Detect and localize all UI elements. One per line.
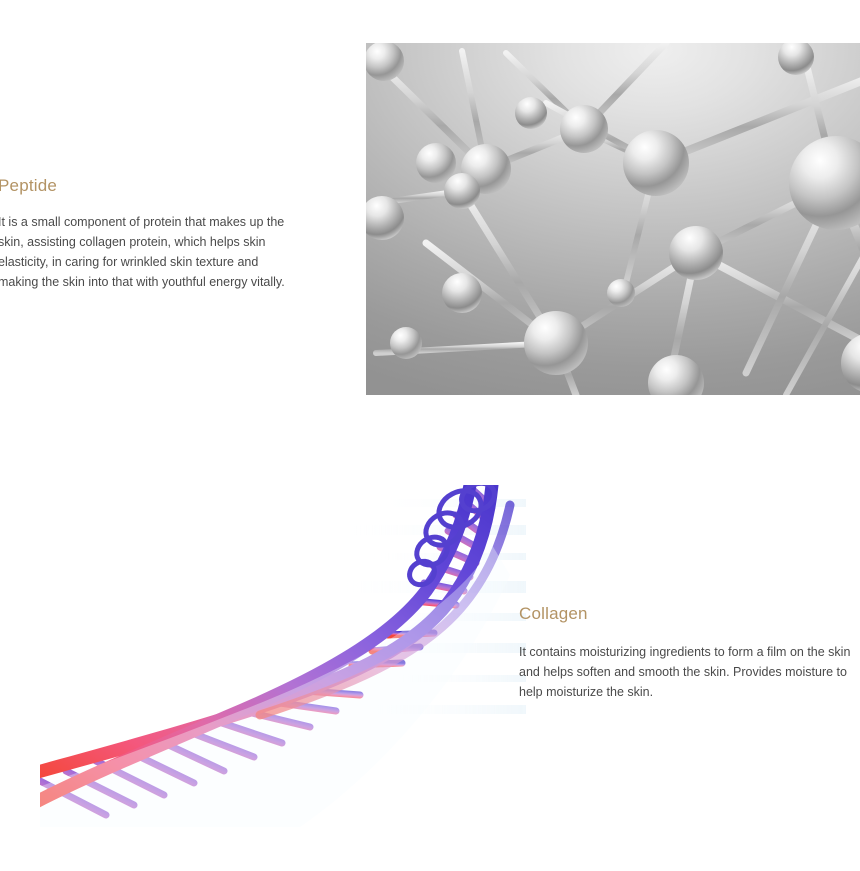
molecule-illustration <box>366 43 860 395</box>
collagen-body-line: It contains moisturizing ingredients to … <box>519 642 855 662</box>
peptide-body-line: skin, assisting collagen protein, which … <box>0 232 298 252</box>
dna-illustration <box>40 485 526 827</box>
collagen-text-block: Collagen It contains moisturizing ingred… <box>519 604 855 702</box>
collagen-body-line: help moisturize the skin. <box>519 682 855 702</box>
dna-helix-image <box>40 485 526 827</box>
peptide-heading: Peptide <box>0 176 298 196</box>
collagen-heading: Collagen <box>519 604 855 624</box>
collagen-body: It contains moisturizing ingredients to … <box>519 642 855 702</box>
collagen-body-line: and helps soften and smooth the skin. Pr… <box>519 662 855 682</box>
molecule-structure-image <box>366 43 860 395</box>
peptide-body-line: It is a small component of protein that … <box>0 212 298 232</box>
page-root: Peptide It is a small component of prote… <box>0 0 860 871</box>
peptide-body: It is a small component of protein that … <box>0 212 298 292</box>
peptide-body-line: elasticity, in caring for wrinkled skin … <box>0 252 298 272</box>
peptide-body-line: making the skin into that with youthful … <box>0 272 298 292</box>
peptide-text-block: Peptide It is a small component of prote… <box>0 176 298 292</box>
